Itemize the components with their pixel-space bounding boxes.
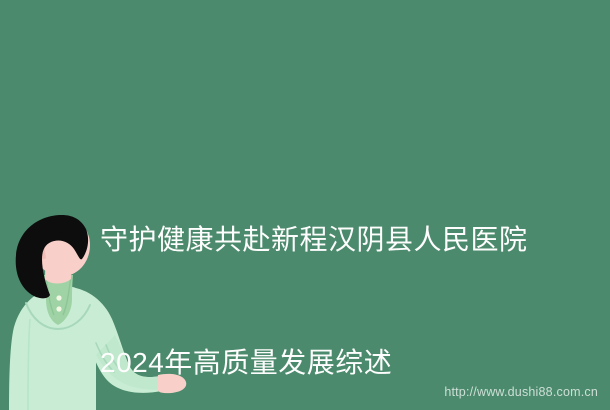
title-line-1: 守护健康共赴新程汉阴县人民医院: [100, 219, 530, 260]
collar-button-bottom: [56, 306, 61, 311]
article-cover-banner: 守护健康共赴新程汉阴县人民医院 2024年高质量发展综述 http://www.…: [0, 0, 610, 410]
title-line-2: 2024年高质量发展综述: [100, 342, 530, 383]
watermark-url: http://www.dushi88.com.cn: [444, 385, 598, 399]
collar-button-top: [56, 295, 61, 300]
page-title: 守护健康共赴新程汉阴县人民医院 2024年高质量发展综述: [100, 137, 530, 410]
